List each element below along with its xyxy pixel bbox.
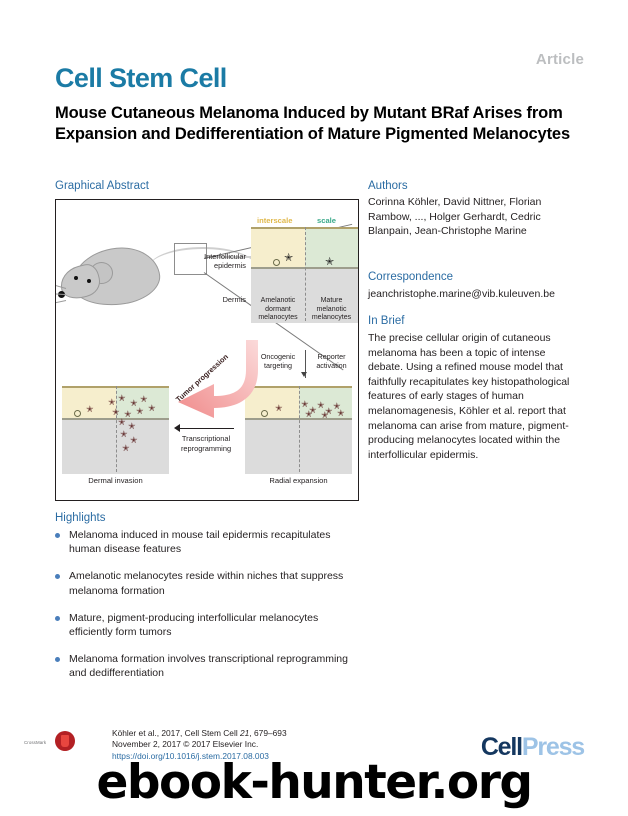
authors-list: Corinna Köhler, David Nittner, Florian R… bbox=[368, 195, 583, 239]
caption-mature-melanocytes: Mature melanotic melanocytes bbox=[306, 297, 357, 323]
article-type-label: Article bbox=[536, 51, 584, 68]
list-item: Mature, pigment-producing interfollicula… bbox=[55, 611, 355, 639]
list-item: Amelanotic melanocytes reside within nic… bbox=[55, 569, 355, 597]
list-item: Melanoma induced in mouse tail epidermis… bbox=[55, 528, 355, 556]
bullet-icon bbox=[55, 574, 60, 579]
highlight-text: Amelanotic melanocytes reside within nic… bbox=[69, 569, 355, 597]
citation-pages: , 679–693 bbox=[249, 728, 286, 738]
tumor-cell-icon: ✭ bbox=[337, 409, 345, 418]
melanocyte-icon: ✭ bbox=[284, 253, 293, 264]
label-scale: scale bbox=[317, 216, 336, 225]
mouse-eye-icon bbox=[87, 279, 91, 283]
caption-radial-expansion: Radial expansion bbox=[245, 476, 352, 485]
highlight-text: Melanoma induced in mouse tail epidermis… bbox=[69, 528, 355, 556]
reprogramming-arrow-line bbox=[178, 428, 234, 429]
in-brief-heading: In Brief bbox=[368, 315, 404, 327]
graphical-abstract-figure: Interfollicular epidermis Dermis intersc… bbox=[55, 199, 359, 501]
tumor-cell-icon: ✭ bbox=[148, 404, 156, 413]
highlights-heading: Highlights bbox=[55, 512, 106, 524]
tumor-cell-icon: ✭ bbox=[321, 411, 329, 420]
tumor-cell-icon: ✭ bbox=[130, 436, 138, 445]
watermark-text: ebook-hunter.org bbox=[0, 755, 628, 810]
list-item: Melanoma formation involves transcriptio… bbox=[55, 652, 355, 680]
mouse-whisker-icon bbox=[55, 300, 66, 304]
citation-line-2: November 2, 2017 © 2017 Elsevier Inc. bbox=[112, 739, 258, 749]
normal-skin-inset: interscale scale ✭ ✭ Amelanotic dormant … bbox=[251, 205, 358, 351]
leftward-arrow-icon bbox=[174, 424, 180, 432]
scale-boundary-divider bbox=[299, 386, 300, 472]
tumor-cell-icon: ✭ bbox=[317, 401, 325, 410]
crossmark-label: CrossMark bbox=[24, 740, 46, 745]
cover-page: Article Cell Stem Cell Mouse Cutaneous M… bbox=[0, 0, 628, 816]
mouse-eye-icon bbox=[74, 276, 78, 280]
tumor-cell-icon: ✭ bbox=[118, 418, 126, 427]
tumor-cell-icon: ✭ bbox=[136, 407, 144, 416]
melanocyte-icon: ✭ bbox=[325, 257, 334, 268]
tumor-cell-icon: ✭ bbox=[122, 444, 130, 453]
downward-arrow-icon bbox=[301, 372, 307, 377]
amelanotic-melanocyte-icon bbox=[74, 410, 81, 417]
tumor-cell-icon: ✭ bbox=[112, 408, 120, 417]
page-title: Mouse Cutaneous Melanoma Induced by Muta… bbox=[55, 103, 580, 145]
citation-volume: 21 bbox=[240, 728, 249, 738]
journal-title: Cell Stem Cell bbox=[55, 63, 227, 94]
bullet-icon bbox=[55, 533, 60, 538]
tumor-cell-icon: ✭ bbox=[301, 400, 309, 409]
correspondence-heading: Correspondence bbox=[368, 271, 453, 283]
amelanotic-melanocyte-icon bbox=[261, 410, 268, 417]
bullet-icon bbox=[55, 657, 60, 662]
scale-boundary-divider bbox=[116, 386, 117, 472]
melanocyte-icon: ✭ bbox=[275, 404, 283, 413]
label-interfollicular-epidermis: Interfollicular epidermis bbox=[184, 252, 246, 270]
mouse-whisker-icon bbox=[55, 293, 65, 295]
amelanotic-melanocyte-icon bbox=[273, 259, 280, 266]
tumor-cell-icon: ✭ bbox=[140, 395, 148, 404]
caption-amelanotic-melanocytes: Amelanotic dormant melanocytes bbox=[252, 297, 304, 323]
dermal-invasion-panel: ✭ ✭ ✭ ✭ ✭ ✭ ✭ ✭ ✭ ✭ ✭ ✭ ✭ ✭ bbox=[62, 386, 169, 472]
melanocyte-icon: ✭ bbox=[86, 405, 94, 414]
citation-line-1: Köhler et al., 2017, Cell Stem Cell bbox=[112, 728, 240, 738]
highlight-text: Mature, pigment-producing interfollicula… bbox=[69, 611, 355, 639]
crossmark-icon[interactable] bbox=[55, 731, 77, 753]
tumor-cell-icon: ✭ bbox=[305, 410, 313, 419]
tumor-cell-icon: ✭ bbox=[120, 430, 128, 439]
tumor-cell-icon: ✭ bbox=[108, 398, 116, 407]
highlights-list: Melanoma induced in mouse tail epidermis… bbox=[55, 528, 355, 694]
highlight-text: Melanoma formation involves transcriptio… bbox=[69, 652, 355, 680]
label-dermis: Dermis bbox=[184, 295, 246, 304]
label-interscale: interscale bbox=[257, 216, 292, 225]
label-reporter-activation: Reporter activation bbox=[306, 352, 357, 370]
graphical-abstract-heading: Graphical Abstract bbox=[55, 180, 149, 192]
tumor-cell-icon: ✭ bbox=[128, 422, 136, 431]
bullet-icon bbox=[55, 616, 60, 621]
label-transcriptional-reprogramming: Transcriptional reprogramming bbox=[166, 434, 246, 453]
in-brief-body: The precise cellular origin of cutaneous… bbox=[368, 331, 583, 462]
tumor-cell-icon: ✭ bbox=[118, 394, 126, 403]
authors-heading: Authors bbox=[368, 180, 408, 192]
radial-expansion-panel: ✭ ✭ ✭ ✭ ✭ ✭ ✭ ✭ ✭ bbox=[245, 386, 352, 472]
caption-dermal-invasion: Dermal invasion bbox=[62, 476, 169, 485]
tumor-progression-arrow-icon bbox=[164, 340, 260, 418]
correspondence-email[interactable]: jeanchristophe.marine@vib.kuleuven.be bbox=[368, 287, 583, 302]
